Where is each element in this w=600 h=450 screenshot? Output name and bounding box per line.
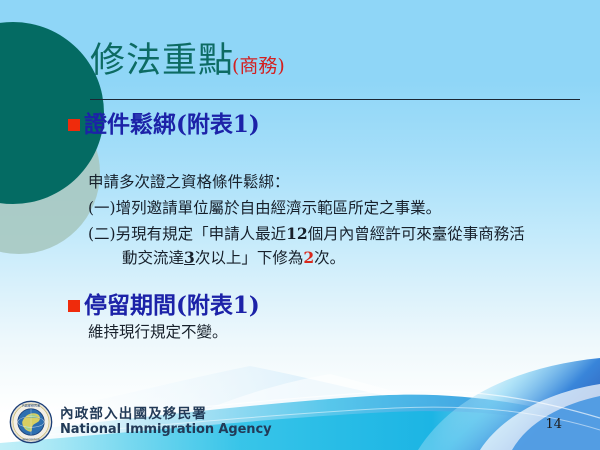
section-2-body: 維持現行規定不變。 <box>88 320 228 344</box>
section-heading-1: 證件鬆綁(附表1) <box>68 112 260 137</box>
body-line-3: (二)另現有規定「申請人最近12個月內曾經許可來臺從事商務活 <box>88 222 525 246</box>
body-line-4-post: 次。 <box>314 249 345 267</box>
body-line-3-pre: (二)另現有規定「申請人最近 <box>88 225 286 243</box>
red-square-bullet-icon <box>68 119 80 131</box>
body-line-1: 申請多次證之資格條件鬆綁： <box>88 170 290 194</box>
section-heading-1-label: 證件鬆綁(附表1) <box>84 112 260 137</box>
national-immigration-agency-emblem-icon: 內政部移民署 IMMIGRATION <box>9 400 53 444</box>
body-line-2: (一)增列邀請單位屬於自由經濟示範區所定之事業。 <box>88 196 441 220</box>
body-line-4-mid: 次以上」下修為 <box>195 249 304 267</box>
presentation-slide: 修法重點(商務) 證件鬆綁(附表1) 申請多次證之資格條件鬆綁： (一)增列邀請… <box>0 0 600 450</box>
footer-org-names: 內政部入出國及移民署 National Immigration Agency <box>60 408 271 436</box>
footer-org-zh: 內政部入出國及移民署 <box>60 408 271 422</box>
slide-title-main: 修法重點 <box>90 44 234 79</box>
highlight-number-2: 2 <box>303 248 314 267</box>
highlight-number-12: 12 <box>286 224 308 243</box>
section-heading-2-label: 停留期間(附表1) <box>84 293 260 318</box>
body-line-4: 動交流達3次以上」下修為2次。 <box>122 246 345 270</box>
svg-text:IMMIGRATION: IMMIGRATION <box>22 437 40 441</box>
svg-text:內政部移民署: 內政部移民署 <box>22 403 40 408</box>
body-line-4-pre: 動交流達 <box>122 249 184 267</box>
slide-title: 修法重點(商務) <box>90 44 582 79</box>
page-number: 14 <box>545 417 562 432</box>
red-square-bullet-icon <box>68 300 80 312</box>
footer-org-en: National Immigration Agency <box>60 423 271 436</box>
title-divider <box>90 99 580 100</box>
section-heading-2: 停留期間(附表1) <box>68 293 260 318</box>
slide-title-sub: (商務) <box>232 51 285 78</box>
body-line-3-post: 個月內曾經許可來臺從事商務活 <box>308 225 525 243</box>
highlight-number-3: 3 <box>184 248 195 267</box>
footer: 內政部移民署 IMMIGRATION 內政部入出國及移民署 National I… <box>9 400 271 444</box>
